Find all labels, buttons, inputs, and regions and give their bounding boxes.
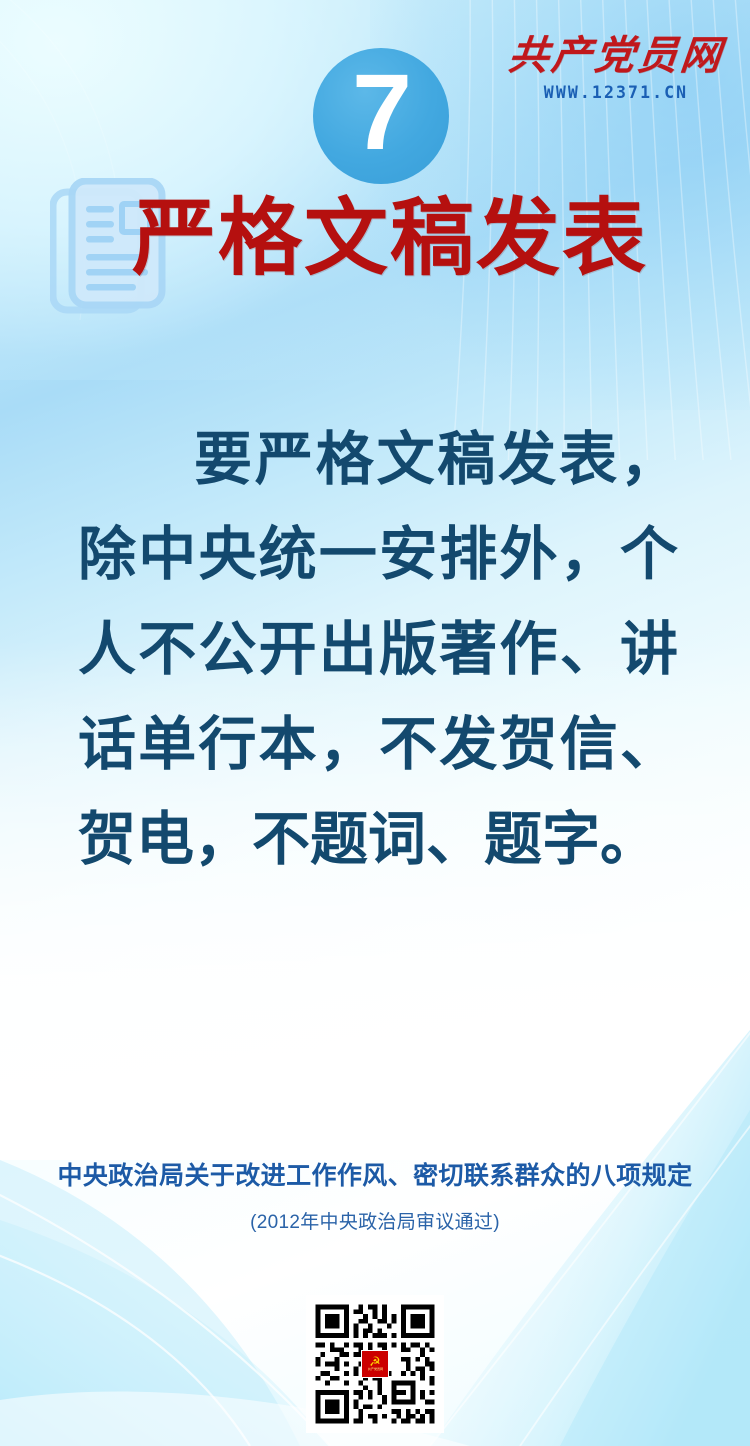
rule-body-text: 要严格文稿发表，除中央统一安排外，个人不公开出版著作、讲话单行本，不发贺信、贺电… <box>78 412 678 887</box>
site-logo[interactable]: 共产党员网 WWW.12371.CN <box>506 36 726 102</box>
poster-root: 共产党员网 WWW.12371.CN 7 严格文稿发表 要严格文稿发表，除中央统… <box>0 0 750 1446</box>
qr-code[interactable]: ☭ 共产党员网 <box>306 1295 444 1433</box>
rule-number: 7 <box>352 58 410 166</box>
footer-regulation-title: 中央政治局关于改进工作作风、密切联系群众的八项规定 <box>0 1156 750 1192</box>
site-logo-url: WWW.12371.CN <box>506 85 726 102</box>
footer-regulation-subtitle: (2012年中央政治局审议通过) <box>0 1207 750 1234</box>
site-logo-text: 共产党员网 <box>504 36 728 76</box>
rule-number-badge: 7 <box>313 48 449 184</box>
page-title: 严格文稿发表 <box>132 196 648 280</box>
emblem-caption: 共产党员网 <box>367 1368 382 1371</box>
party-emblem-icon: ☭ 共产党员网 <box>361 1350 389 1378</box>
